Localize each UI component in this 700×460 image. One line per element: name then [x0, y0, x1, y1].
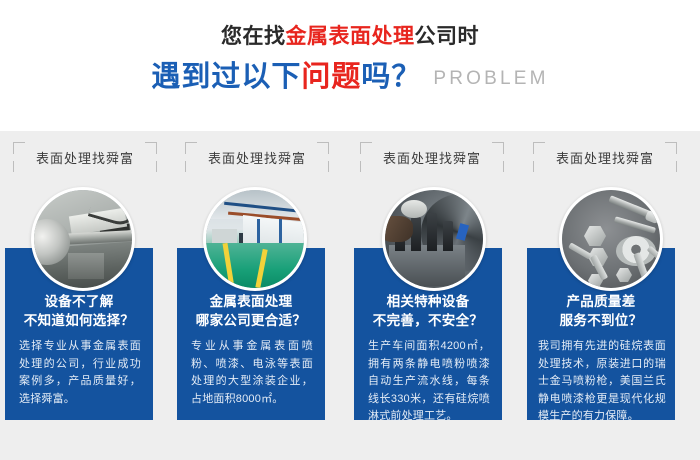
card-tag: 表面处理找舜富	[533, 142, 677, 172]
card-body-text: 生产车间面积4200㎡，拥有两条静电喷粉喷漆自动生产流水线，每条线长330米，还…	[368, 338, 490, 426]
card-heading: 金属表面处理 哪家公司更合适？	[177, 292, 325, 330]
heading-line-1-suffix: 公司时	[415, 25, 480, 48]
card-heading-line-1: 金属表面处理	[177, 292, 325, 311]
metal-parts-fixture-photo	[382, 187, 486, 291]
heading-line-2-highlight: 问题	[301, 61, 361, 93]
card-tag-label: 表面处理找舜富	[533, 142, 677, 172]
card-heading-line-2: 不知道如何选择？	[5, 311, 153, 330]
card-tag-label: 表面处理找舜富	[13, 142, 157, 172]
heading-line-2: 遇到过以下问题吗？PROBLEM	[0, 57, 700, 99]
heading-line-2-prefix: 遇到过以下	[151, 61, 301, 93]
factory-workshop-photo	[203, 187, 307, 291]
heading-line-2-suffix: 吗？	[361, 61, 421, 93]
card-heading: 产品质量差 服务不到位？	[527, 292, 675, 330]
card-tag: 表面处理找舜富	[13, 142, 157, 172]
card-heading-line-1: 设备不了解	[5, 292, 153, 311]
card-tag: 表面处理找舜富	[185, 142, 329, 172]
lathe-machine-photo	[31, 187, 135, 291]
heading-line-1-highlight: 金属表面处理	[286, 25, 415, 48]
card-body-text: 专业从事金属表面喷粉、喷漆、电泳等表面处理的大型涂装企业，占地面积8000㎡。	[191, 338, 313, 408]
card-tag-label: 表面处理找舜富	[185, 142, 329, 172]
card-body-text: 我司拥有先进的硅烷表面处理技术，原装进口的瑞士金马喷粉枪，美国兰氏静电喷漆枪更是…	[538, 338, 666, 426]
problem-card[interactable]: 表面处理找舜富 金属表面处理 哪家公司更合适？ 专业从事金属表面喷粉、喷漆、电泳…	[177, 131, 337, 460]
heading-line-1: 您在找金属表面处理公司时	[0, 22, 700, 52]
page-heading-group: 您在找金属表面处理公司时 遇到过以下问题吗？PROBLEM	[0, 0, 700, 131]
card-heading-line-1: 产品质量差	[527, 292, 675, 311]
card-heading-line-1: 相关特种设备	[354, 292, 502, 311]
card-heading-line-2: 哪家公司更合适？	[177, 311, 325, 330]
fasteners-photo	[559, 187, 663, 291]
card-tag: 表面处理找舜富	[360, 142, 504, 172]
problem-card[interactable]: 表面处理找舜富 产品质量差 服务不到位？ 我司拥有先进的硅烷表面处理技术，原装进…	[525, 131, 685, 460]
card-heading: 设备不了解 不知道如何选择？	[5, 292, 153, 330]
heading-line-1-prefix: 您在找	[221, 25, 286, 48]
promo-banner: 您在找金属表面处理公司时 遇到过以下问题吗？PROBLEM 表面处理找舜富 设备…	[0, 0, 700, 460]
card-tag-label: 表面处理找舜富	[360, 142, 504, 172]
heading-english-label: PROBLEM	[433, 68, 548, 89]
card-heading-line-2: 服务不到位？	[527, 311, 675, 330]
problem-card[interactable]: 表面处理找舜富 相关特种设备 不完善，不安全？ 生产车间面积4200㎡，拥有两条…	[352, 131, 512, 460]
problem-card[interactable]: 表面处理找舜富 设备不了解 不知道如何选择？ 选择专业从事金属表面处理的公司，行…	[5, 131, 165, 460]
card-heading: 相关特种设备 不完善，不安全？	[354, 292, 502, 330]
card-body-text: 选择专业从事金属表面处理的公司，行业成功案例多，产品质量好，选择舜富。	[19, 338, 141, 408]
card-heading-line-2: 不完善，不安全？	[354, 311, 502, 330]
